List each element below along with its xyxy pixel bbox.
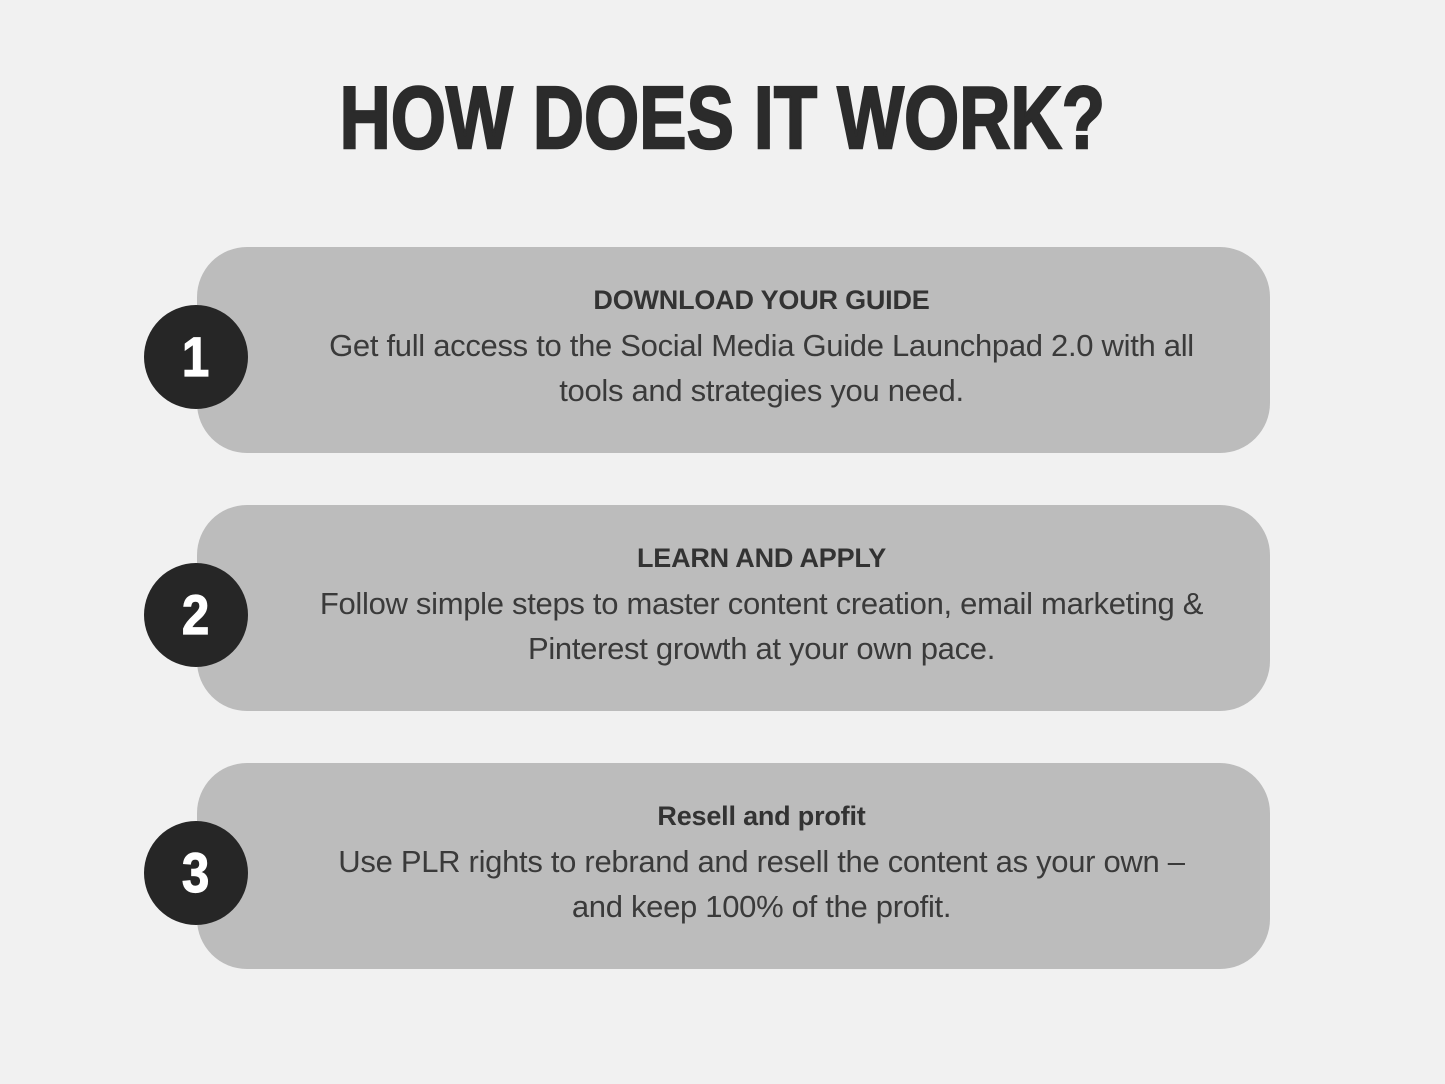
step-item: LEARN AND APPLY Follow simple steps to m… — [0, 505, 1445, 711]
step-card: Resell and profit Use PLR rights to rebr… — [197, 763, 1270, 969]
step-number: 3 — [182, 845, 209, 901]
step-heading: Resell and profit — [657, 802, 865, 832]
step-number-badge: 2 — [144, 563, 248, 667]
step-item: Resell and profit Use PLR rights to rebr… — [0, 763, 1445, 969]
step-card: DOWNLOAD YOUR GUIDE Get full access to t… — [197, 247, 1270, 453]
step-item: DOWNLOAD YOUR GUIDE Get full access to t… — [0, 247, 1445, 453]
step-card: LEARN AND APPLY Follow simple steps to m… — [197, 505, 1270, 711]
step-number-badge: 3 — [144, 821, 248, 925]
step-number: 1 — [182, 329, 209, 385]
step-text-block: LEARN AND APPLY Follow simple steps to m… — [305, 505, 1218, 711]
step-description: Get full access to the Social Media Guid… — [312, 324, 1212, 414]
step-description: Follow simple steps to master content cr… — [312, 582, 1212, 672]
step-text-block: DOWNLOAD YOUR GUIDE Get full access to t… — [305, 247, 1218, 453]
step-number-badge: 1 — [144, 305, 248, 409]
page-title: HOW DOES IT WORK? — [145, 74, 1301, 162]
how-it-works-poster: HOW DOES IT WORK? DOWNLOAD YOUR GUIDE Ge… — [0, 0, 1445, 1084]
step-heading: LEARN AND APPLY — [637, 544, 886, 574]
steps-list: DOWNLOAD YOUR GUIDE Get full access to t… — [0, 247, 1445, 969]
step-description: Use PLR rights to rebrand and resell the… — [312, 840, 1212, 930]
step-heading: DOWNLOAD YOUR GUIDE — [593, 286, 929, 316]
step-number: 2 — [182, 587, 209, 643]
step-text-block: Resell and profit Use PLR rights to rebr… — [305, 763, 1218, 969]
